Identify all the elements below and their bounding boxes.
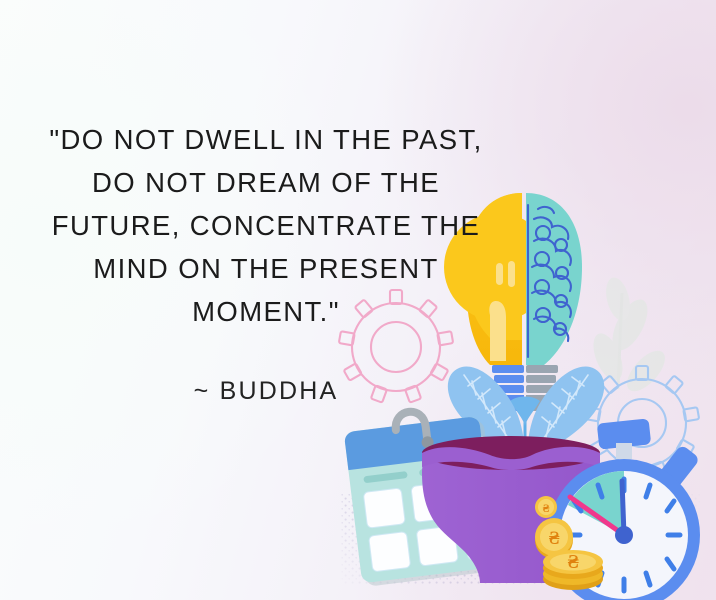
quote-author: ~ Buddha [16, 333, 516, 406]
stopwatch-crown-button [597, 418, 651, 459]
brain-half [526, 193, 582, 365]
svg-text:₴: ₴ [549, 528, 560, 549]
svg-text:₴: ₴ [567, 551, 579, 573]
coin-stack: ₴ [543, 550, 603, 590]
stopwatch-center-pin [615, 526, 633, 544]
quote-text: "Do not dwell in the past, do not dream … [16, 118, 516, 333]
quote-graphic-canvas: "Do not dwell in the past, do not dream … [0, 0, 716, 600]
quote-block: "Do not dwell in the past, do not dream … [16, 118, 516, 406]
svg-text:₴: ₴ [543, 501, 550, 515]
coin-small: ₴ [535, 496, 557, 518]
